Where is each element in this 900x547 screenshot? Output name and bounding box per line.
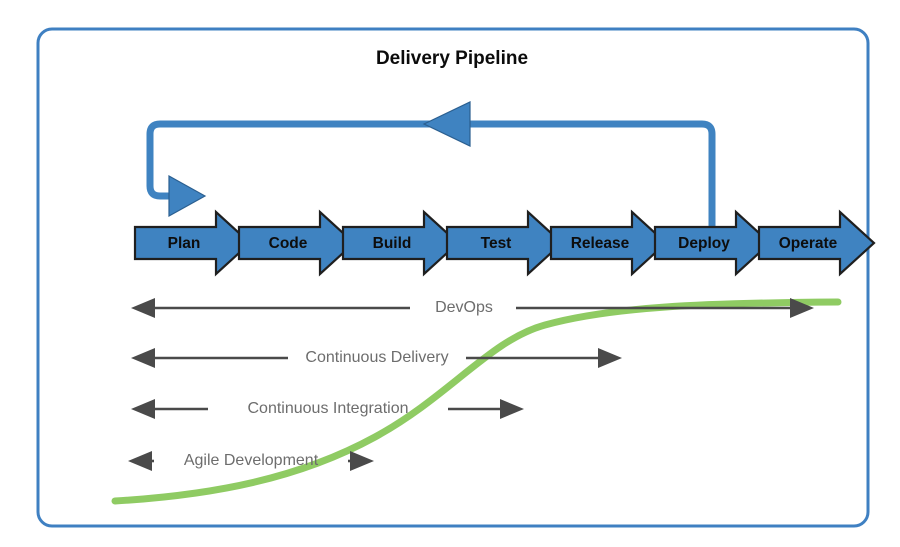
diagram-canvas: Delivery Pipeline Plan Code Build Tes <box>0 0 900 547</box>
stage-label-code: Code <box>269 235 308 252</box>
diagram-frame <box>38 29 868 526</box>
stage-label-test: Test <box>481 235 512 252</box>
page-title: Delivery Pipeline <box>376 48 528 69</box>
span-label-continuous-integration: Continuous Integration <box>248 400 409 417</box>
span-label-continuous-delivery: Continuous Delivery <box>305 349 448 366</box>
delivery-pipeline-diagram: Delivery Pipeline Plan Code Build Tes <box>0 0 900 547</box>
stage-label-release: Release <box>571 235 630 252</box>
span-label-agile-development: Agile Development <box>184 452 319 469</box>
stage-label-build: Build <box>373 235 412 252</box>
stage-label-deploy: Deploy <box>678 235 730 252</box>
stage-label-plan: Plan <box>168 235 201 252</box>
span-label-devops: DevOps <box>435 299 493 316</box>
stage-label-operate: Operate <box>779 235 838 252</box>
